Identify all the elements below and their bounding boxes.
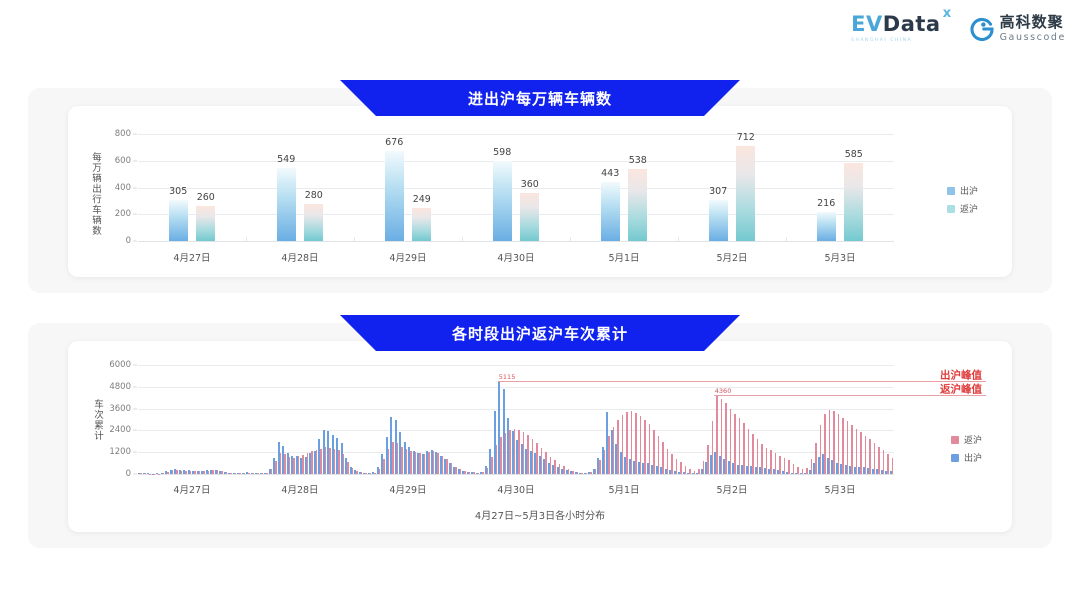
bar-出沪-4月30日[interactable]: 598 [493,161,512,241]
hourly-bar-返沪[interactable] [586,473,588,474]
y-axis-tick-label: 6000 [109,360,131,370]
hourly-bar-返沪[interactable] [374,473,376,474]
hourly-bar-返沪[interactable] [617,420,619,475]
hourly-bar-返沪[interactable] [185,471,187,474]
hourly-bar-返沪[interactable] [775,453,777,474]
hourly-bar-返沪[interactable] [383,459,385,474]
y-axis-tick-label: 600 [115,156,131,166]
hourly-bar-返沪[interactable] [761,444,763,474]
hourly-bar-返沪[interactable] [167,472,169,474]
hourly-bar-返沪[interactable] [649,424,651,474]
legend-item-返沪[interactable]: 返沪 [947,202,978,215]
gridline [138,430,894,431]
chart1-title: 进出沪每万辆车辆数 [468,88,612,109]
hourly-bar-返沪[interactable] [203,471,205,474]
chart2-x-axis-caption: 4月27日~5月3日各小时分布 [475,507,605,522]
evdata-logo: EVDatax SHANGHAI CHINA [851,14,940,43]
hourly-bar-返沪[interactable] [883,450,885,474]
y-axis-tick-label: 400 [115,183,131,193]
bar-出沪-5月1日[interactable]: 443 [601,182,620,241]
x-axis-tick-mark [570,237,571,241]
hourly-bar-返沪[interactable] [442,456,444,474]
chart2-title: 各时段出沪返沪车次累计 [452,323,628,344]
bar-value-label: 360 [521,179,539,190]
gausscode-mark-icon [970,17,994,41]
hourly-bar-返沪[interactable] [698,469,700,474]
hourly-bar-返沪[interactable] [226,472,228,474]
y-axis-tick-label: 4800 [109,382,131,392]
bar-出沪-4月27日[interactable]: 305 [169,200,188,241]
x-axis-label-4月27日: 4月27日 [173,482,210,496]
hourly-bar-返沪[interactable] [482,472,484,474]
hourly-bar-返沪[interactable] [730,409,732,474]
hourly-bar-返沪[interactable] [523,432,525,474]
hourly-bar-返沪[interactable] [365,473,367,474]
x-axis-label-5月1日: 5月1日 [608,250,639,264]
y-axis-tick-label: 1200 [109,447,131,457]
hourly-bar-返沪[interactable] [235,473,237,474]
hourly-bar-返沪[interactable] [842,418,844,474]
bar-chart-plot-area: 02004006008003052604月27日5492804月28日67624… [138,134,894,241]
evdata-superscript-icon: x [943,7,952,20]
hourly-bar-返沪[interactable] [577,472,579,474]
hourly-bar-返沪[interactable] [820,425,822,474]
hourly-bar-返沪[interactable] [248,473,250,474]
hourly-bar-返沪[interactable] [622,415,624,474]
gausscode-en: Gausscode [1000,33,1066,43]
y-axis-tick-label: 200 [115,209,131,219]
hourly-bar-返沪[interactable] [316,450,318,474]
hourly-bar-返沪[interactable] [811,459,813,474]
hourly-bar-返沪[interactable] [599,460,601,474]
x-axis-line [138,241,894,242]
x-axis-label-5月3日: 5月3日 [824,482,855,496]
bar-value-label: 280 [305,190,323,201]
hourly-bar-返沪[interactable] [217,470,219,474]
evdata-prefix: EV [851,12,883,36]
hourly-bar-返沪[interactable] [527,435,529,474]
hourly-bar-返沪[interactable] [685,466,687,474]
bar-出沪-4月28日[interactable]: 549 [277,168,296,241]
hourly-bar-返沪[interactable] [671,454,673,474]
hourly-bar-返沪[interactable] [190,471,192,474]
legend-label: 返沪 [960,202,978,215]
bar-value-label: 249 [413,194,431,205]
hourly-bar-返沪[interactable] [194,471,196,474]
hourly-bar-返沪[interactable] [388,449,390,474]
bar-value-label: 307 [709,186,727,197]
hourly-bar-返沪[interactable] [505,433,507,474]
evdata-tagline: SHANGHAI CHINA [851,38,912,43]
chart-panel-hourly-trips: 0120024003600480060004月27日4月28日4月29日4月30… [28,323,1052,548]
legend-swatch-icon [947,205,955,213]
hourly-bar-返沪[interactable] [838,414,840,474]
hourly-bar-返沪[interactable] [230,473,232,474]
hourly-bar-返沪[interactable] [514,429,516,474]
hourly-bar-返沪[interactable] [392,442,394,474]
hourly-bar-返沪[interactable] [662,442,664,474]
chart-card-1: 02004006008003052604月27日5492804月28日67624… [68,106,1012,277]
hourly-bar-返沪[interactable] [145,473,147,474]
hourly-bar-返沪[interactable] [856,429,858,474]
bar-value-label: 305 [169,186,187,197]
hourly-bar-返沪[interactable] [428,452,430,474]
bar-出沪-5月2日[interactable]: 307 [709,200,728,241]
peak-reference-line-出沪峰值 [498,381,986,382]
hourly-bar-返沪[interactable] [172,470,174,474]
hourly-bar-返沪[interactable] [455,467,457,474]
hourly-bar-返沪[interactable] [401,447,403,474]
hourly-bar-返沪[interactable] [221,471,223,474]
hourly-bar-返沪[interactable] [212,470,214,474]
hourly-bar-返沪[interactable] [419,453,421,474]
brand-logo-bar: EVDatax SHANGHAI CHINA 高科数聚 Gausscode [851,14,1066,43]
bar-value-label: 598 [493,147,511,158]
hourly-bar-返沪[interactable] [302,455,304,474]
bar-返沪-4月27日[interactable]: 260 [196,206,215,241]
gridline [138,365,894,366]
hourly-bar-返沪[interactable] [703,461,705,474]
y-axis-tick-mark [133,452,137,453]
hourly-bar-返沪[interactable] [878,447,880,474]
hourly-bar-返沪[interactable] [284,454,286,474]
hourly-chart-plot-area: 0120024003600480060004月27日4月28日4月29日4月30… [138,365,894,474]
hourly-bar-返沪[interactable] [788,460,790,474]
hourly-bar-返沪[interactable] [563,466,565,474]
hourly-bar-返沪[interactable] [271,469,273,474]
hourly-bar-返沪[interactable] [667,449,669,474]
y-axis-tick-mark [133,134,137,135]
bar-返沪-4月30日[interactable]: 360 [520,193,539,241]
hourly-bar-返沪[interactable] [626,412,628,474]
hourly-bar-返沪[interactable] [874,443,876,474]
hourly-bar-返沪[interactable] [631,411,633,474]
hourly-bar-返沪[interactable] [244,473,246,474]
x-axis-tick-mark [246,237,247,241]
hourly-bar-返沪[interactable] [140,473,142,474]
bar-value-label: 443 [601,168,619,179]
y-axis-tick-label: 0 [126,469,131,479]
legend-swatch-icon [951,454,959,462]
hourly-bar-返沪[interactable] [887,454,889,474]
hourly-bar-返沪[interactable] [748,429,750,474]
x-axis-label-4月29日: 4月29日 [389,482,426,496]
x-axis-label-5月1日: 5月1日 [608,482,639,496]
hourly-bar-返沪[interactable] [743,423,745,474]
bar-返沪-4月28日[interactable]: 280 [304,204,323,241]
gridline [138,409,894,410]
hourly-bar-返沪[interactable] [347,462,349,474]
hourly-bar-返沪[interactable] [379,469,381,474]
hourly-bar-返沪[interactable] [770,450,772,474]
hourly-bar-返沪[interactable] [734,414,736,474]
hourly-bar-返沪[interactable] [694,471,696,474]
hourly-bar-返沪[interactable] [311,451,313,474]
bar-value-label: 549 [277,154,295,165]
x-axis-label-4月27日: 4月27日 [173,250,210,264]
dashboard-page: EVDatax SHANGHAI CHINA 高科数聚 Gausscode 02… [0,0,1080,608]
bar-value-label: 676 [385,137,403,148]
y-axis-tick-mark [133,241,137,242]
hourly-bar-返沪[interactable] [329,448,331,474]
hourly-bar-返沪[interactable] [361,472,363,474]
peak-name-label: 返沪峰值 [940,381,982,396]
y-axis-tick-mark [133,408,137,409]
hourly-bar-返沪[interactable] [725,403,727,474]
hourly-bar-返沪[interactable] [397,443,399,474]
gridline [138,161,894,162]
hourly-bar-返沪[interactable] [176,470,178,474]
hourly-bar-返沪[interactable] [257,473,259,474]
chart1-y-axis-label: 每万辆出行车辆数 [88,152,102,236]
legend-swatch-icon [951,436,959,444]
hourly-bar-返沪[interactable] [739,418,741,474]
chart-panel-daily-vehicles: 02004006008003052604月27日5492804月28日67624… [28,88,1052,293]
hourly-bar-返沪[interactable] [343,454,345,474]
gridline [138,214,894,215]
hourly-bar-返沪[interactable] [860,432,862,474]
hourly-bar-返沪[interactable] [847,421,849,474]
hourly-bar-返沪[interactable] [307,453,309,474]
x-axis-tick-mark [786,237,787,241]
hourly-bar-返沪[interactable] [293,458,295,474]
hourly-bar-返沪[interactable] [865,436,867,474]
hourly-bar-返沪[interactable] [149,474,151,475]
hourly-bar-返沪[interactable] [275,461,277,474]
hourly-bar-返沪[interactable] [541,448,543,474]
bar-value-label: 585 [845,149,863,160]
bar-返沪-5月1日[interactable]: 538 [628,169,647,241]
hourly-bar-返沪[interactable] [712,421,714,474]
hourly-bar-返沪[interactable] [806,468,808,474]
gausscode-text: 高科数聚 Gausscode [1000,15,1066,43]
y-axis-tick-mark [133,474,137,475]
peak-value-label: 4360 [715,387,732,395]
hourly-bar-返沪[interactable] [716,395,718,474]
hourly-bar-返沪[interactable] [833,411,835,474]
y-axis-tick-mark [133,365,137,366]
hourly-bar-返沪[interactable] [581,473,583,474]
hourly-bar-返沪[interactable] [568,469,570,474]
hourly-bar-返沪[interactable] [406,449,408,474]
hourly-bar-返沪[interactable] [280,453,282,474]
hourly-bar-返沪[interactable] [199,471,201,474]
hourly-bar-返沪[interactable] [352,468,354,474]
chart2-y-axis-label: 车次累计 [90,399,104,441]
bar-出沪-4月29日[interactable]: 676 [385,151,404,241]
hourly-bar-返沪[interactable] [289,457,291,474]
hourly-bar-返沪[interactable] [464,471,466,474]
hourly-bar-返沪[interactable] [473,472,475,474]
bar-返沪-5月3日[interactable]: 585 [844,163,863,241]
hourly-bar-返沪[interactable] [424,454,426,474]
hourly-bar-返沪[interactable] [487,468,489,474]
legend-label: 返沪 [964,433,982,446]
hourly-bar-返沪[interactable] [554,460,556,474]
hourly-bar-返沪[interactable] [253,473,255,474]
hourly-bar-返沪[interactable] [158,474,160,475]
y-axis-tick-label: 0 [126,236,131,246]
hourly-bar-返沪[interactable] [613,427,615,474]
hourly-bar-返沪[interactable] [707,445,709,474]
hourly-bar-返沪[interactable] [892,458,894,474]
bar-出沪-5月3日[interactable]: 216 [817,212,836,241]
hourly-bar-返沪[interactable] [559,464,561,474]
hourly-bar-返沪[interactable] [757,439,759,474]
logo-divider [955,16,956,42]
chart2-legend: 返沪出沪 [951,433,982,464]
hourly-bar-返沪[interactable] [658,436,660,474]
hourly-bar-返沪[interactable] [752,434,754,474]
x-axis-label-4月28日: 4月28日 [281,482,318,496]
y-axis-tick-mark [133,187,137,188]
hourly-bar-返沪[interactable] [595,469,597,474]
hourly-bar-返沪[interactable] [266,473,268,474]
hourly-bar-返沪[interactable] [797,467,799,474]
hourly-bar-返沪[interactable] [536,443,538,474]
hourly-bar-返沪[interactable] [676,459,678,474]
hourly-bar-返沪[interactable] [829,410,831,474]
hourly-bar-返沪[interactable] [572,471,574,474]
hourly-bar-返沪[interactable] [262,473,264,474]
chart1-legend: 出沪返沪 [947,184,978,215]
hourly-bar-返沪[interactable] [334,449,336,474]
hourly-bar-返沪[interactable] [766,448,768,474]
bar-value-label: 216 [817,198,835,209]
x-axis-label-4月30日: 4月30日 [497,250,534,264]
hourly-bar-返沪[interactable] [518,430,520,475]
hourly-bar-返沪[interactable] [478,473,480,474]
hourly-bar-返沪[interactable] [721,399,723,474]
legend-label: 出沪 [964,451,982,464]
hourly-bar-返沪[interactable] [469,472,471,474]
hourly-bar-返沪[interactable] [653,430,655,475]
x-axis-tick-mark [354,237,355,241]
hourly-bar-返沪[interactable] [802,469,804,474]
y-axis-tick-mark [133,214,137,215]
hourly-bar-返沪[interactable] [532,439,534,474]
hourly-bar-返沪[interactable] [500,437,502,474]
x-axis-label-4月29日: 4月29日 [389,250,426,264]
x-axis-tick-mark [462,237,463,241]
hourly-bar-返沪[interactable] [325,447,327,474]
hourly-bar-返沪[interactable] [437,453,439,474]
y-axis-tick-mark [133,430,137,431]
hourly-bar-返沪[interactable] [644,420,646,475]
gausscode-logo: 高科数聚 Gausscode [970,15,1066,43]
bar-value-label: 260 [197,192,215,203]
hourly-bar-返沪[interactable] [433,451,435,474]
bar-value-label: 538 [629,155,647,166]
hourly-bar-返沪[interactable] [635,413,637,474]
gridline [138,134,894,135]
legend-swatch-icon [947,187,955,195]
gridline [138,188,894,189]
bar-返沪-4月29日[interactable]: 249 [412,208,431,241]
hourly-bar-返沪[interactable] [784,458,786,474]
hourly-bar-返沪[interactable] [451,463,453,474]
hourly-bar-返沪[interactable] [824,414,826,474]
hourly-bar-返沪[interactable] [338,450,340,474]
x-axis-label-5月2日: 5月2日 [716,250,747,264]
y-axis-tick-label: 2400 [109,425,131,435]
x-axis-label-4月30日: 4月30日 [497,482,534,496]
legend-label: 出沪 [960,184,978,197]
hourly-bar-返沪[interactable] [181,471,183,474]
hourly-bar-返沪[interactable] [163,473,165,474]
hourly-bar-返沪[interactable] [779,456,781,474]
peak-value-label: 5115 [499,373,516,381]
x-axis-tick-mark [678,237,679,241]
x-axis-label-4月28日: 4月28日 [281,250,318,264]
hourly-bar-返沪[interactable] [851,425,853,474]
hourly-bar-返沪[interactable] [793,464,795,474]
hourly-bar-返沪[interactable] [208,471,210,474]
x-axis-label-5月2日: 5月2日 [716,482,747,496]
x-axis-label-5月3日: 5月3日 [824,250,855,264]
evdata-wordmark: EVDatax [851,14,940,35]
hourly-bar-返沪[interactable] [356,471,358,474]
hourly-bar-返沪[interactable] [608,436,610,474]
chart1-title-banner: 进出沪每万辆车辆数 [340,80,740,116]
gridline [138,387,894,388]
hourly-bar-返沪[interactable] [415,452,417,474]
hourly-bar-返沪[interactable] [410,451,412,474]
hourly-bar-返沪[interactable] [491,457,493,474]
bar-value-label: 712 [737,132,755,143]
hourly-bar-返沪[interactable] [689,469,691,474]
legend-item-出沪[interactable]: 出沪 [951,451,982,464]
hourly-bar-返沪[interactable] [509,430,511,474]
hourly-bar-返沪[interactable] [680,462,682,474]
hourly-bar-返沪[interactable] [446,459,448,474]
hourly-bar-返沪[interactable] [320,449,322,474]
hourly-bar-返沪[interactable] [604,450,606,474]
x-axis-line [138,474,894,475]
y-axis-tick-mark [133,160,137,161]
bar-返沪-5月2日[interactable]: 712 [736,146,755,241]
hourly-bar-返沪[interactable] [550,457,552,474]
y-axis-tick-label: 800 [115,129,131,139]
hourly-bar-返沪[interactable] [869,439,871,474]
hourly-bar-返沪[interactable] [545,452,547,474]
legend-item-出沪[interactable]: 出沪 [947,184,978,197]
hourly-bar-返沪[interactable] [640,416,642,474]
hourly-bar-返沪[interactable] [298,456,300,474]
chart-card-2: 0120024003600480060004月27日4月28日4月29日4月30… [68,341,1012,532]
hourly-bar-返沪[interactable] [239,473,241,474]
hourly-bar-返沪[interactable] [496,445,498,474]
evdata-suffix: Data [883,12,941,36]
gausscode-cn: 高科数聚 [1000,15,1066,30]
hourly-bar-返沪[interactable] [460,469,462,474]
legend-item-返沪[interactable]: 返沪 [951,433,982,446]
hourly-bar-返沪[interactable] [590,472,592,474]
hourly-bar-返沪[interactable] [370,473,372,474]
hourly-bar-返沪[interactable] [815,443,817,474]
chart2-title-banner: 各时段出沪返沪车次累计 [340,315,740,351]
y-axis-tick-mark [133,386,137,387]
y-axis-tick-label: 3600 [109,404,131,414]
